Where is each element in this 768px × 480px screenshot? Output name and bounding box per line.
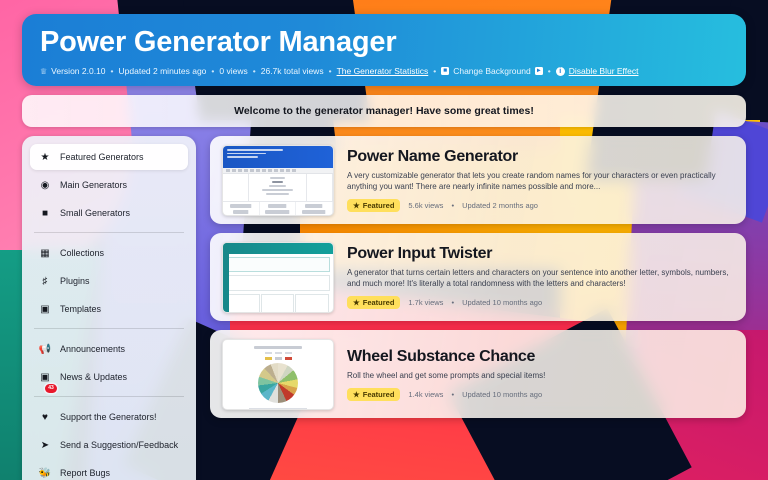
star-icon: ★ xyxy=(39,152,51,163)
sidebar-item-label: Small Generators xyxy=(60,208,130,218)
sidebar-item-news-updates[interactable]: ▣ 43 News & Updates xyxy=(30,364,188,390)
sidebar-item-featured-generators[interactable]: ★ Featured Generators xyxy=(30,144,188,170)
image-icon[interactable]: ■ xyxy=(441,67,449,75)
wheel-substance-chance-thumbnail xyxy=(222,339,334,410)
thumb-legend-2 xyxy=(227,357,329,360)
thumb-box-1 xyxy=(226,257,330,272)
meta-sep-5: • xyxy=(432,66,437,76)
arrow-right-icon[interactable]: ▸ xyxy=(535,67,543,75)
crown-icon: ♕ xyxy=(40,67,47,76)
thumb-header xyxy=(223,146,333,168)
page-title: Power Generator Manager xyxy=(40,24,728,60)
template-icon: ▣ xyxy=(39,304,51,315)
welcome-message: Welcome to the generator manager! Have s… xyxy=(234,105,534,117)
sidebar-item-plugins[interactable]: ♯ Plugins xyxy=(30,268,188,294)
thumb-header xyxy=(223,243,333,254)
sidebar-item-label: Collections xyxy=(60,248,104,258)
content-area: ★ Featured Generators ◉ Main Generators … xyxy=(22,136,746,480)
meta-sep-6: • xyxy=(547,66,552,76)
sidebar-item-label: News & Updates xyxy=(60,372,127,382)
masks-icon: ◉ xyxy=(39,180,51,191)
header-meta: ♕ Version 2.0.10 • Updated 2 minutes ago… xyxy=(40,66,728,76)
sidebar-item-feedback[interactable]: ➤ Send a Suggestion/Feedback xyxy=(30,432,188,458)
card-title: Power Name Generator xyxy=(347,148,734,166)
sidebar-item-report-bugs[interactable]: 🐝 Report Bugs xyxy=(30,460,188,480)
sidebar-item-announcements[interactable]: 📢 Announcements xyxy=(30,336,188,362)
featured-badge: ★ Featured xyxy=(347,388,400,401)
card-title: Power Input Twister xyxy=(347,245,734,263)
sidebar-item-label: Featured Generators xyxy=(60,152,144,162)
meta-sep-3: • xyxy=(252,66,257,76)
plug-icon: ♯ xyxy=(39,276,51,287)
card-sep: • xyxy=(451,390,454,399)
featured-badge-label: Featured xyxy=(363,390,395,399)
card-body: Wheel Substance Chance Roll the wheel an… xyxy=(347,348,734,401)
sidebar-item-label: Plugins xyxy=(60,276,90,286)
generator-card[interactable]: Power Name Generator A very customizable… xyxy=(210,136,746,224)
megaphone-icon: 📢 xyxy=(39,344,51,355)
sidebar-item-support[interactable]: ♥ Support the Generators! xyxy=(30,404,188,430)
sidebar-item-label: Support the Generators! xyxy=(60,412,157,422)
featured-badge: ★ Featured xyxy=(347,199,400,212)
sidebar-item-collections[interactable]: ▦ Collections xyxy=(30,240,188,266)
welcome-banner: Welcome to the generator manager! Have s… xyxy=(22,95,746,127)
thumb-legend xyxy=(227,352,329,355)
card-body: Power Name Generator A very customizable… xyxy=(347,148,734,212)
generator-statistics-link[interactable]: The Generator Statistics xyxy=(337,66,429,76)
power-name-generator-thumbnail xyxy=(222,145,334,216)
sidebar-item-main-generators[interactable]: ◉ Main Generators xyxy=(30,172,188,198)
meta-sep-1: • xyxy=(110,66,115,76)
sidebar-item-label: Report Bugs xyxy=(60,468,110,478)
paper-plane-icon: ➤ xyxy=(39,440,51,451)
wheel-chart-icon xyxy=(258,363,298,403)
bug-icon: 🐝 xyxy=(39,468,51,479)
total-views-text: 26.7k total views xyxy=(261,66,324,76)
generator-card[interactable]: Power Input Twister A generator that tur… xyxy=(210,233,746,321)
sidebar-divider-3 xyxy=(34,396,184,397)
card-updated: Updated 10 months ago xyxy=(462,390,542,399)
thumb-caption xyxy=(249,408,307,410)
card-updated: Updated 2 months ago xyxy=(462,201,538,210)
sidebar-item-label: Main Generators xyxy=(60,180,127,190)
thumb-title xyxy=(254,346,302,349)
card-body: Power Input Twister A generator that tur… xyxy=(347,245,734,309)
card-footer: ★ Featured 1.7k views • Updated 10 month… xyxy=(347,296,734,309)
card-views: 1.7k views xyxy=(408,298,443,307)
sidebar-item-templates[interactable]: ▣ Templates xyxy=(30,296,188,322)
views-text: 0 views xyxy=(219,66,247,76)
info-icon[interactable]: i xyxy=(556,67,565,76)
card-updated: Updated 10 months ago xyxy=(462,298,542,307)
card-description: A generator that turns certain letters a… xyxy=(347,267,734,289)
star-icon: ★ xyxy=(353,390,360,399)
thumb-sidebar xyxy=(223,243,229,312)
thumb-columns xyxy=(223,174,333,201)
sidebar-item-small-generators[interactable]: ■ Small Generators xyxy=(30,200,188,226)
card-description: Roll the wheel and get some prompts and … xyxy=(347,370,734,381)
sidebar-item-label: Announcements xyxy=(60,344,125,354)
card-title: Wheel Substance Chance xyxy=(347,348,734,366)
page-root: Power Generator Manager ♕ Version 2.0.10… xyxy=(0,0,768,480)
heart-icon: ♥ xyxy=(39,412,51,423)
card-description: A very customizable generator that lets … xyxy=(347,170,734,192)
small-square-icon: ■ xyxy=(39,208,51,219)
updated-text: Updated 2 minutes ago xyxy=(119,66,207,76)
generator-card-list: Power Name Generator A very customizable… xyxy=(210,136,746,480)
card-sep: • xyxy=(451,201,454,210)
grid-icon: ▦ xyxy=(39,248,51,259)
thumb-columns xyxy=(226,294,330,313)
change-background-text[interactable]: Change Background xyxy=(453,66,531,76)
meta-sep-4: • xyxy=(328,66,333,76)
newspaper-icon: ▣ 43 xyxy=(39,372,51,383)
card-sep: • xyxy=(451,298,454,307)
disable-blur-link[interactable]: Disable Blur Effect xyxy=(569,66,639,76)
featured-badge-label: Featured xyxy=(363,298,395,307)
star-icon: ★ xyxy=(353,201,360,210)
thumb-footer xyxy=(223,201,333,216)
featured-badge-label: Featured xyxy=(363,201,395,210)
generator-card[interactable]: Wheel Substance Chance Roll the wheel an… xyxy=(210,330,746,418)
star-icon: ★ xyxy=(353,298,360,307)
version-text: Version 2.0.10 xyxy=(51,66,105,76)
page-header: Power Generator Manager ♕ Version 2.0.10… xyxy=(22,14,746,86)
news-badge: 43 xyxy=(45,384,57,393)
sidebar-item-label: Send a Suggestion/Feedback xyxy=(60,440,178,450)
power-input-twister-thumbnail xyxy=(222,242,334,313)
card-footer: ★ Featured 1.4k views • Updated 10 month… xyxy=(347,388,734,401)
thumb-box-2 xyxy=(226,275,330,291)
meta-sep-2: • xyxy=(210,66,215,76)
sidebar-divider-2 xyxy=(34,328,184,329)
card-views: 5.6k views xyxy=(408,201,443,210)
sidebar: ★ Featured Generators ◉ Main Generators … xyxy=(22,136,196,480)
sidebar-divider-1 xyxy=(34,232,184,233)
sidebar-item-label: Templates xyxy=(60,304,101,314)
featured-badge: ★ Featured xyxy=(347,296,400,309)
card-footer: ★ Featured 5.6k views • Updated 2 months… xyxy=(347,199,734,212)
card-views: 1.4k views xyxy=(408,390,443,399)
